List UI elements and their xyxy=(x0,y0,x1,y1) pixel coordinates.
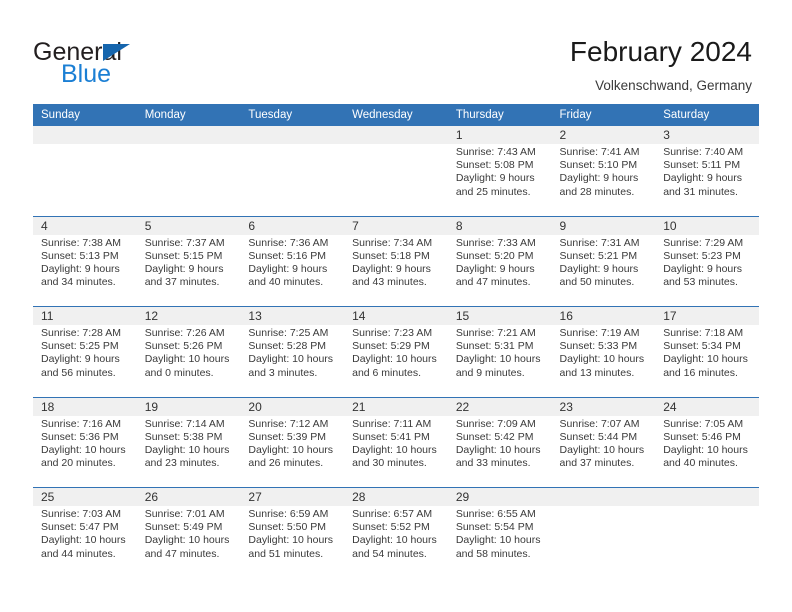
daylight-text-line2: and 47 minutes. xyxy=(145,548,235,561)
day-number-cell: 17 xyxy=(655,307,759,326)
day-detail-cell: Sunrise: 7:18 AM Sunset: 5:34 PM Dayligh… xyxy=(655,325,759,397)
day-detail-cell xyxy=(655,506,759,578)
weekday-header-wednesday: Wednesday xyxy=(344,104,448,126)
weekday-header-friday: Friday xyxy=(552,104,656,126)
sunrise-text: Sunrise: 6:55 AM xyxy=(456,508,546,521)
day-number-cell xyxy=(33,126,137,144)
day-number-cell: 27 xyxy=(240,488,344,507)
sunset-text: Sunset: 5:13 PM xyxy=(41,250,131,263)
day-number-cell: 12 xyxy=(137,307,241,326)
day-detail-cell: Sunrise: 7:41 AM Sunset: 5:10 PM Dayligh… xyxy=(552,144,656,216)
sunset-text: Sunset: 5:28 PM xyxy=(248,340,338,353)
page-title: February 2024 xyxy=(570,36,752,68)
weekday-header-tuesday: Tuesday xyxy=(240,104,344,126)
daylight-text-line1: Daylight: 9 hours xyxy=(145,263,235,276)
sunrise-text: Sunrise: 7:11 AM xyxy=(352,418,442,431)
day-number-cell: 1 xyxy=(448,126,552,144)
day-detail-cell: Sunrise: 6:57 AM Sunset: 5:52 PM Dayligh… xyxy=(344,506,448,578)
daylight-text-line2: and 34 minutes. xyxy=(41,276,131,289)
daylight-text-line2: and 26 minutes. xyxy=(248,457,338,470)
day-detail-cell xyxy=(552,506,656,578)
day-number-cell: 21 xyxy=(344,397,448,416)
daylight-text-line1: Daylight: 10 hours xyxy=(352,444,442,457)
sunrise-text: Sunrise: 7:14 AM xyxy=(145,418,235,431)
sunrise-text: Sunrise: 7:03 AM xyxy=(41,508,131,521)
daylight-text-line2: and 16 minutes. xyxy=(663,367,753,380)
day-number-cell xyxy=(344,126,448,144)
daylight-text-line2: and 6 minutes. xyxy=(352,367,442,380)
day-number-cell: 14 xyxy=(344,307,448,326)
daylight-text-line1: Daylight: 10 hours xyxy=(663,353,753,366)
daylight-text-line1: Daylight: 10 hours xyxy=(145,534,235,547)
day-detail-cell: Sunrise: 7:43 AM Sunset: 5:08 PM Dayligh… xyxy=(448,144,552,216)
daylight-text-line1: Daylight: 10 hours xyxy=(560,444,650,457)
sunrise-text: Sunrise: 7:25 AM xyxy=(248,327,338,340)
day-number-cell: 25 xyxy=(33,488,137,507)
daylight-text-line1: Daylight: 10 hours xyxy=(248,444,338,457)
week-daynumbers-row: 11 12 13 14 15 16 17 xyxy=(33,307,759,326)
sunrise-text: Sunrise: 6:59 AM xyxy=(248,508,338,521)
week-details-row: Sunrise: 7:03 AM Sunset: 5:47 PM Dayligh… xyxy=(33,506,759,578)
day-detail-cell: Sunrise: 7:11 AM Sunset: 5:41 PM Dayligh… xyxy=(344,416,448,488)
sunrise-text: Sunrise: 7:07 AM xyxy=(560,418,650,431)
daylight-text-line2: and 47 minutes. xyxy=(456,276,546,289)
day-detail-cell: Sunrise: 7:29 AM Sunset: 5:23 PM Dayligh… xyxy=(655,235,759,307)
sunset-text: Sunset: 5:26 PM xyxy=(145,340,235,353)
day-number-cell: 26 xyxy=(137,488,241,507)
daylight-text-line2: and 51 minutes. xyxy=(248,548,338,561)
daylight-text-line2: and 23 minutes. xyxy=(145,457,235,470)
daylight-text-line1: Daylight: 9 hours xyxy=(663,263,753,276)
daylight-text-line2: and 50 minutes. xyxy=(560,276,650,289)
sunset-text: Sunset: 5:50 PM xyxy=(248,521,338,534)
day-detail-cell xyxy=(240,144,344,216)
week-details-row: Sunrise: 7:28 AM Sunset: 5:25 PM Dayligh… xyxy=(33,325,759,397)
daylight-text-line1: Daylight: 9 hours xyxy=(248,263,338,276)
daylight-text-line2: and 37 minutes. xyxy=(145,276,235,289)
day-detail-cell: Sunrise: 7:12 AM Sunset: 5:39 PM Dayligh… xyxy=(240,416,344,488)
sunset-text: Sunset: 5:25 PM xyxy=(41,340,131,353)
day-detail-cell: Sunrise: 7:21 AM Sunset: 5:31 PM Dayligh… xyxy=(448,325,552,397)
sunrise-text: Sunrise: 7:34 AM xyxy=(352,237,442,250)
calendar-grid: Sunday Monday Tuesday Wednesday Thursday… xyxy=(33,104,759,578)
daylight-text-line2: and 33 minutes. xyxy=(456,457,546,470)
daylight-text-line1: Daylight: 9 hours xyxy=(456,263,546,276)
day-number-cell: 2 xyxy=(552,126,656,144)
daylight-text-line2: and 40 minutes. xyxy=(248,276,338,289)
daylight-text-line2: and 56 minutes. xyxy=(41,367,131,380)
sunset-text: Sunset: 5:33 PM xyxy=(560,340,650,353)
day-number-cell: 8 xyxy=(448,216,552,235)
daylight-text-line2: and 30 minutes. xyxy=(352,457,442,470)
sunrise-text: Sunrise: 7:31 AM xyxy=(560,237,650,250)
sunrise-text: Sunrise: 6:57 AM xyxy=(352,508,442,521)
daylight-text-line1: Daylight: 9 hours xyxy=(663,172,753,185)
daylight-text-line1: Daylight: 9 hours xyxy=(41,263,131,276)
day-number-cell: 23 xyxy=(552,397,656,416)
day-detail-cell: Sunrise: 7:03 AM Sunset: 5:47 PM Dayligh… xyxy=(33,506,137,578)
daylight-text-line1: Daylight: 10 hours xyxy=(456,534,546,547)
day-detail-cell: Sunrise: 7:05 AM Sunset: 5:46 PM Dayligh… xyxy=(655,416,759,488)
sunrise-text: Sunrise: 7:28 AM xyxy=(41,327,131,340)
day-number-cell: 20 xyxy=(240,397,344,416)
day-number-cell xyxy=(240,126,344,144)
sunrise-text: Sunrise: 7:26 AM xyxy=(145,327,235,340)
day-number-cell xyxy=(552,488,656,507)
day-number-cell: 11 xyxy=(33,307,137,326)
sunset-text: Sunset: 5:36 PM xyxy=(41,431,131,444)
day-detail-cell: Sunrise: 7:23 AM Sunset: 5:29 PM Dayligh… xyxy=(344,325,448,397)
sunset-text: Sunset: 5:18 PM xyxy=(352,250,442,263)
day-detail-cell xyxy=(137,144,241,216)
daylight-text-line1: Daylight: 10 hours xyxy=(248,534,338,547)
daylight-text-line1: Daylight: 10 hours xyxy=(41,534,131,547)
daylight-text-line2: and 58 minutes. xyxy=(456,548,546,561)
day-number-cell: 19 xyxy=(137,397,241,416)
week-details-row: Sunrise: 7:38 AM Sunset: 5:13 PM Dayligh… xyxy=(33,235,759,307)
day-number-cell: 6 xyxy=(240,216,344,235)
day-detail-cell: Sunrise: 7:34 AM Sunset: 5:18 PM Dayligh… xyxy=(344,235,448,307)
sunset-text: Sunset: 5:23 PM xyxy=(663,250,753,263)
sunset-text: Sunset: 5:38 PM xyxy=(145,431,235,444)
sunrise-text: Sunrise: 7:01 AM xyxy=(145,508,235,521)
sunset-text: Sunset: 5:20 PM xyxy=(456,250,546,263)
day-detail-cell: Sunrise: 7:31 AM Sunset: 5:21 PM Dayligh… xyxy=(552,235,656,307)
daylight-text-line2: and 43 minutes. xyxy=(352,276,442,289)
week-details-row: Sunrise: 7:16 AM Sunset: 5:36 PM Dayligh… xyxy=(33,416,759,488)
daylight-text-line1: Daylight: 10 hours xyxy=(248,353,338,366)
day-detail-cell: Sunrise: 7:16 AM Sunset: 5:36 PM Dayligh… xyxy=(33,416,137,488)
day-number-cell xyxy=(655,488,759,507)
day-detail-cell: Sunrise: 7:07 AM Sunset: 5:44 PM Dayligh… xyxy=(552,416,656,488)
sunset-text: Sunset: 5:44 PM xyxy=(560,431,650,444)
sunrise-text: Sunrise: 7:38 AM xyxy=(41,237,131,250)
sunset-text: Sunset: 5:52 PM xyxy=(352,521,442,534)
sunset-text: Sunset: 5:42 PM xyxy=(456,431,546,444)
sunset-text: Sunset: 5:15 PM xyxy=(145,250,235,263)
day-detail-cell: Sunrise: 7:36 AM Sunset: 5:16 PM Dayligh… xyxy=(240,235,344,307)
sunset-text: Sunset: 5:08 PM xyxy=(456,159,546,172)
weekday-header-saturday: Saturday xyxy=(655,104,759,126)
sunset-text: Sunset: 5:10 PM xyxy=(560,159,650,172)
daylight-text-line1: Daylight: 10 hours xyxy=(560,353,650,366)
day-detail-cell: Sunrise: 7:25 AM Sunset: 5:28 PM Dayligh… xyxy=(240,325,344,397)
day-number-cell: 18 xyxy=(33,397,137,416)
daylight-text-line2: and 13 minutes. xyxy=(560,367,650,380)
day-detail-cell xyxy=(344,144,448,216)
daylight-text-line2: and 37 minutes. xyxy=(560,457,650,470)
daylight-text-line1: Daylight: 10 hours xyxy=(456,444,546,457)
sunrise-text: Sunrise: 7:36 AM xyxy=(248,237,338,250)
sunrise-text: Sunrise: 7:09 AM xyxy=(456,418,546,431)
daylight-text-line1: Daylight: 10 hours xyxy=(663,444,753,457)
sunrise-text: Sunrise: 7:33 AM xyxy=(456,237,546,250)
sunrise-text: Sunrise: 7:37 AM xyxy=(145,237,235,250)
daylight-text-line2: and 53 minutes. xyxy=(663,276,753,289)
daylight-text-line1: Daylight: 10 hours xyxy=(145,353,235,366)
day-detail-cell: Sunrise: 7:37 AM Sunset: 5:15 PM Dayligh… xyxy=(137,235,241,307)
daylight-text-line2: and 20 minutes. xyxy=(41,457,131,470)
daylight-text-line1: Daylight: 10 hours xyxy=(456,353,546,366)
daylight-text-line2: and 9 minutes. xyxy=(456,367,546,380)
week-daynumbers-row: 25 26 27 28 29 xyxy=(33,488,759,507)
day-number-cell: 5 xyxy=(137,216,241,235)
page-subtitle-location: Volkenschwand, Germany xyxy=(595,78,752,93)
daylight-text-line1: Daylight: 10 hours xyxy=(41,444,131,457)
day-number-cell: 4 xyxy=(33,216,137,235)
sunset-text: Sunset: 5:49 PM xyxy=(145,521,235,534)
daylight-text-line2: and 25 minutes. xyxy=(456,186,546,199)
logo-text-blue: Blue xyxy=(61,60,111,89)
sunset-text: Sunset: 5:21 PM xyxy=(560,250,650,263)
daylight-text-line1: Daylight: 10 hours xyxy=(145,444,235,457)
sunrise-text: Sunrise: 7:16 AM xyxy=(41,418,131,431)
daylight-text-line2: and 0 minutes. xyxy=(145,367,235,380)
day-detail-cell: Sunrise: 7:28 AM Sunset: 5:25 PM Dayligh… xyxy=(33,325,137,397)
daylight-text-line1: Daylight: 9 hours xyxy=(352,263,442,276)
daylight-text-line1: Daylight: 9 hours xyxy=(560,263,650,276)
daylight-text-line1: Daylight: 9 hours xyxy=(41,353,131,366)
day-number-cell: 15 xyxy=(448,307,552,326)
daylight-text-line1: Daylight: 9 hours xyxy=(560,172,650,185)
day-detail-cell xyxy=(33,144,137,216)
sunset-text: Sunset: 5:34 PM xyxy=(663,340,753,353)
sunset-text: Sunset: 5:41 PM xyxy=(352,431,442,444)
daylight-text-line2: and 28 minutes. xyxy=(560,186,650,199)
calendar-weekday-header: Sunday Monday Tuesday Wednesday Thursday… xyxy=(33,104,759,126)
daylight-text-line1: Daylight: 10 hours xyxy=(352,534,442,547)
day-number-cell: 3 xyxy=(655,126,759,144)
daylight-text-line1: Daylight: 10 hours xyxy=(352,353,442,366)
sunrise-text: Sunrise: 7:23 AM xyxy=(352,327,442,340)
daylight-text-line2: and 44 minutes. xyxy=(41,548,131,561)
day-number-cell: 7 xyxy=(344,216,448,235)
day-detail-cell: Sunrise: 6:59 AM Sunset: 5:50 PM Dayligh… xyxy=(240,506,344,578)
day-number-cell: 13 xyxy=(240,307,344,326)
sunset-text: Sunset: 5:46 PM xyxy=(663,431,753,444)
sunset-text: Sunset: 5:39 PM xyxy=(248,431,338,444)
week-daynumbers-row: 1 2 3 xyxy=(33,126,759,144)
sunset-text: Sunset: 5:31 PM xyxy=(456,340,546,353)
sunrise-text: Sunrise: 7:19 AM xyxy=(560,327,650,340)
day-detail-cell: Sunrise: 7:19 AM Sunset: 5:33 PM Dayligh… xyxy=(552,325,656,397)
day-number-cell: 10 xyxy=(655,216,759,235)
daylight-text-line1: Daylight: 9 hours xyxy=(456,172,546,185)
week-daynumbers-row: 4 5 6 7 8 9 10 xyxy=(33,216,759,235)
sunrise-text: Sunrise: 7:12 AM xyxy=(248,418,338,431)
sunset-text: Sunset: 5:47 PM xyxy=(41,521,131,534)
sunrise-text: Sunrise: 7:41 AM xyxy=(560,146,650,159)
day-number-cell: 16 xyxy=(552,307,656,326)
sunrise-text: Sunrise: 7:18 AM xyxy=(663,327,753,340)
day-detail-cell: Sunrise: 7:14 AM Sunset: 5:38 PM Dayligh… xyxy=(137,416,241,488)
sunset-text: Sunset: 5:11 PM xyxy=(663,159,753,172)
day-number-cell: 28 xyxy=(344,488,448,507)
daylight-text-line2: and 40 minutes. xyxy=(663,457,753,470)
sunrise-text: Sunrise: 7:29 AM xyxy=(663,237,753,250)
calendar-table: Sunday Monday Tuesday Wednesday Thursday… xyxy=(33,104,759,578)
page-header: General Blue February 2024 Volkenschwand… xyxy=(0,0,792,104)
day-number-cell: 9 xyxy=(552,216,656,235)
daylight-text-line2: and 31 minutes. xyxy=(663,186,753,199)
general-blue-logo[interactable]: General Blue xyxy=(33,38,223,90)
day-detail-cell: Sunrise: 7:38 AM Sunset: 5:13 PM Dayligh… xyxy=(33,235,137,307)
sunset-text: Sunset: 5:29 PM xyxy=(352,340,442,353)
day-detail-cell: Sunrise: 7:40 AM Sunset: 5:11 PM Dayligh… xyxy=(655,144,759,216)
day-number-cell: 22 xyxy=(448,397,552,416)
day-detail-cell: Sunrise: 7:33 AM Sunset: 5:20 PM Dayligh… xyxy=(448,235,552,307)
weekday-header-sunday: Sunday xyxy=(33,104,137,126)
day-number-cell xyxy=(137,126,241,144)
daylight-text-line2: and 54 minutes. xyxy=(352,548,442,561)
week-daynumbers-row: 18 19 20 21 22 23 24 xyxy=(33,397,759,416)
sunset-text: Sunset: 5:54 PM xyxy=(456,521,546,534)
calendar-page: General Blue February 2024 Volkenschwand… xyxy=(0,0,792,612)
week-details-row: Sunrise: 7:43 AM Sunset: 5:08 PM Dayligh… xyxy=(33,144,759,216)
weekday-header-thursday: Thursday xyxy=(448,104,552,126)
sunrise-text: Sunrise: 7:40 AM xyxy=(663,146,753,159)
sunrise-text: Sunrise: 7:43 AM xyxy=(456,146,546,159)
day-number-cell: 24 xyxy=(655,397,759,416)
daylight-text-line2: and 3 minutes. xyxy=(248,367,338,380)
logo-triangle-icon xyxy=(103,44,130,61)
sunrise-text: Sunrise: 7:21 AM xyxy=(456,327,546,340)
calendar-body: 1 2 3 Sunrise: 7:43 AM Sunset: 5:08 PM D… xyxy=(33,126,759,578)
sunset-text: Sunset: 5:16 PM xyxy=(248,250,338,263)
weekday-header-row: Sunday Monday Tuesday Wednesday Thursday… xyxy=(33,104,759,126)
day-number-cell: 29 xyxy=(448,488,552,507)
sunrise-text: Sunrise: 7:05 AM xyxy=(663,418,753,431)
day-detail-cell: Sunrise: 7:09 AM Sunset: 5:42 PM Dayligh… xyxy=(448,416,552,488)
day-detail-cell: Sunrise: 7:26 AM Sunset: 5:26 PM Dayligh… xyxy=(137,325,241,397)
day-detail-cell: Sunrise: 7:01 AM Sunset: 5:49 PM Dayligh… xyxy=(137,506,241,578)
day-detail-cell: Sunrise: 6:55 AM Sunset: 5:54 PM Dayligh… xyxy=(448,506,552,578)
weekday-header-monday: Monday xyxy=(137,104,241,126)
